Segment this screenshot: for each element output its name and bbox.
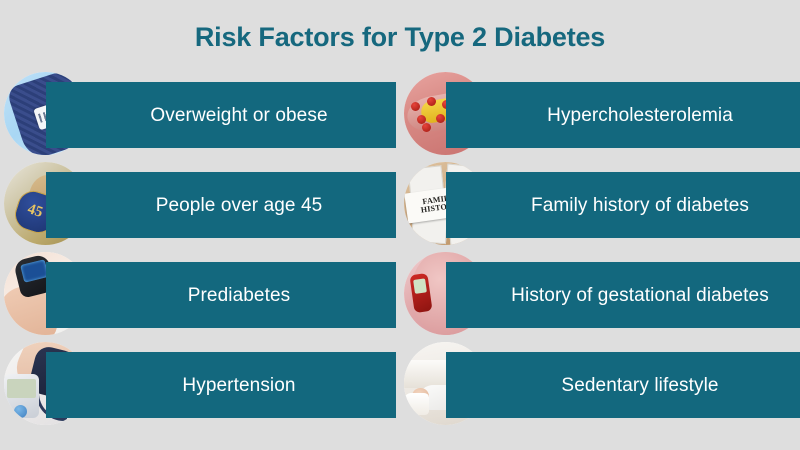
risk-factor-bar[interactable]: History of gestational diabetes: [446, 262, 800, 328]
risk-factor-card-prediabetes[interactable]: Prediabetes: [0, 252, 396, 335]
risk-factor-bar[interactable]: Overweight or obese: [46, 82, 396, 148]
risk-factor-row: 45 People over age 45 FAMILY: [0, 162, 800, 245]
risk-factor-label: Hypercholesterolemia: [547, 106, 733, 125]
risk-factor-bar[interactable]: Sedentary lifestyle: [446, 352, 800, 418]
risk-factor-bar[interactable]: People over age 45: [46, 172, 396, 238]
risk-factor-bar[interactable]: Hypertension: [46, 352, 396, 418]
risk-factor-label: Hypertension: [182, 376, 295, 395]
risk-factor-card-gestational-diabetes[interactable]: History of gestational diabetes: [400, 252, 800, 335]
risk-factor-grid: Overweight or obese Hypercholesterolemi: [0, 72, 800, 442]
risk-factor-label: People over age 45: [156, 196, 323, 215]
risk-factor-card-hypertension[interactable]: Hypertension: [0, 342, 396, 425]
risk-factor-card-sedentary-lifestyle[interactable]: Sedentary lifestyle: [400, 342, 800, 425]
page-title: Risk Factors for Type 2 Diabetes: [0, 22, 800, 53]
risk-factor-card-overweight[interactable]: Overweight or obese: [0, 72, 396, 155]
risk-factor-card-age-45[interactable]: 45 People over age 45: [0, 162, 396, 245]
risk-factor-bar[interactable]: Hypercholesterolemia: [446, 82, 800, 148]
risk-factor-row: Overweight or obese Hypercholesterolemi: [0, 72, 800, 155]
infographic-poster: Risk Factors for Type 2 Diabetes Overwei…: [0, 0, 800, 450]
risk-factor-bar[interactable]: Prediabetes: [46, 262, 396, 328]
risk-factor-label: Overweight or obese: [150, 106, 327, 125]
risk-factor-row: Prediabetes History of gestational diabe…: [0, 252, 800, 335]
risk-factor-row: Hypertension Sedentary lifestyle: [0, 342, 800, 425]
risk-factor-label: Family history of diabetes: [531, 196, 749, 215]
risk-factor-bar[interactable]: Family history of diabetes: [446, 172, 800, 238]
risk-factor-label: Prediabetes: [188, 286, 291, 305]
risk-factor-label: Sedentary lifestyle: [561, 376, 718, 395]
risk-factor-card-family-history[interactable]: FAMILY HISTORY Family history of diabete…: [400, 162, 800, 245]
risk-factor-card-hypercholesterolemia[interactable]: Hypercholesterolemia: [400, 72, 800, 155]
risk-factor-label: History of gestational diabetes: [511, 286, 769, 305]
